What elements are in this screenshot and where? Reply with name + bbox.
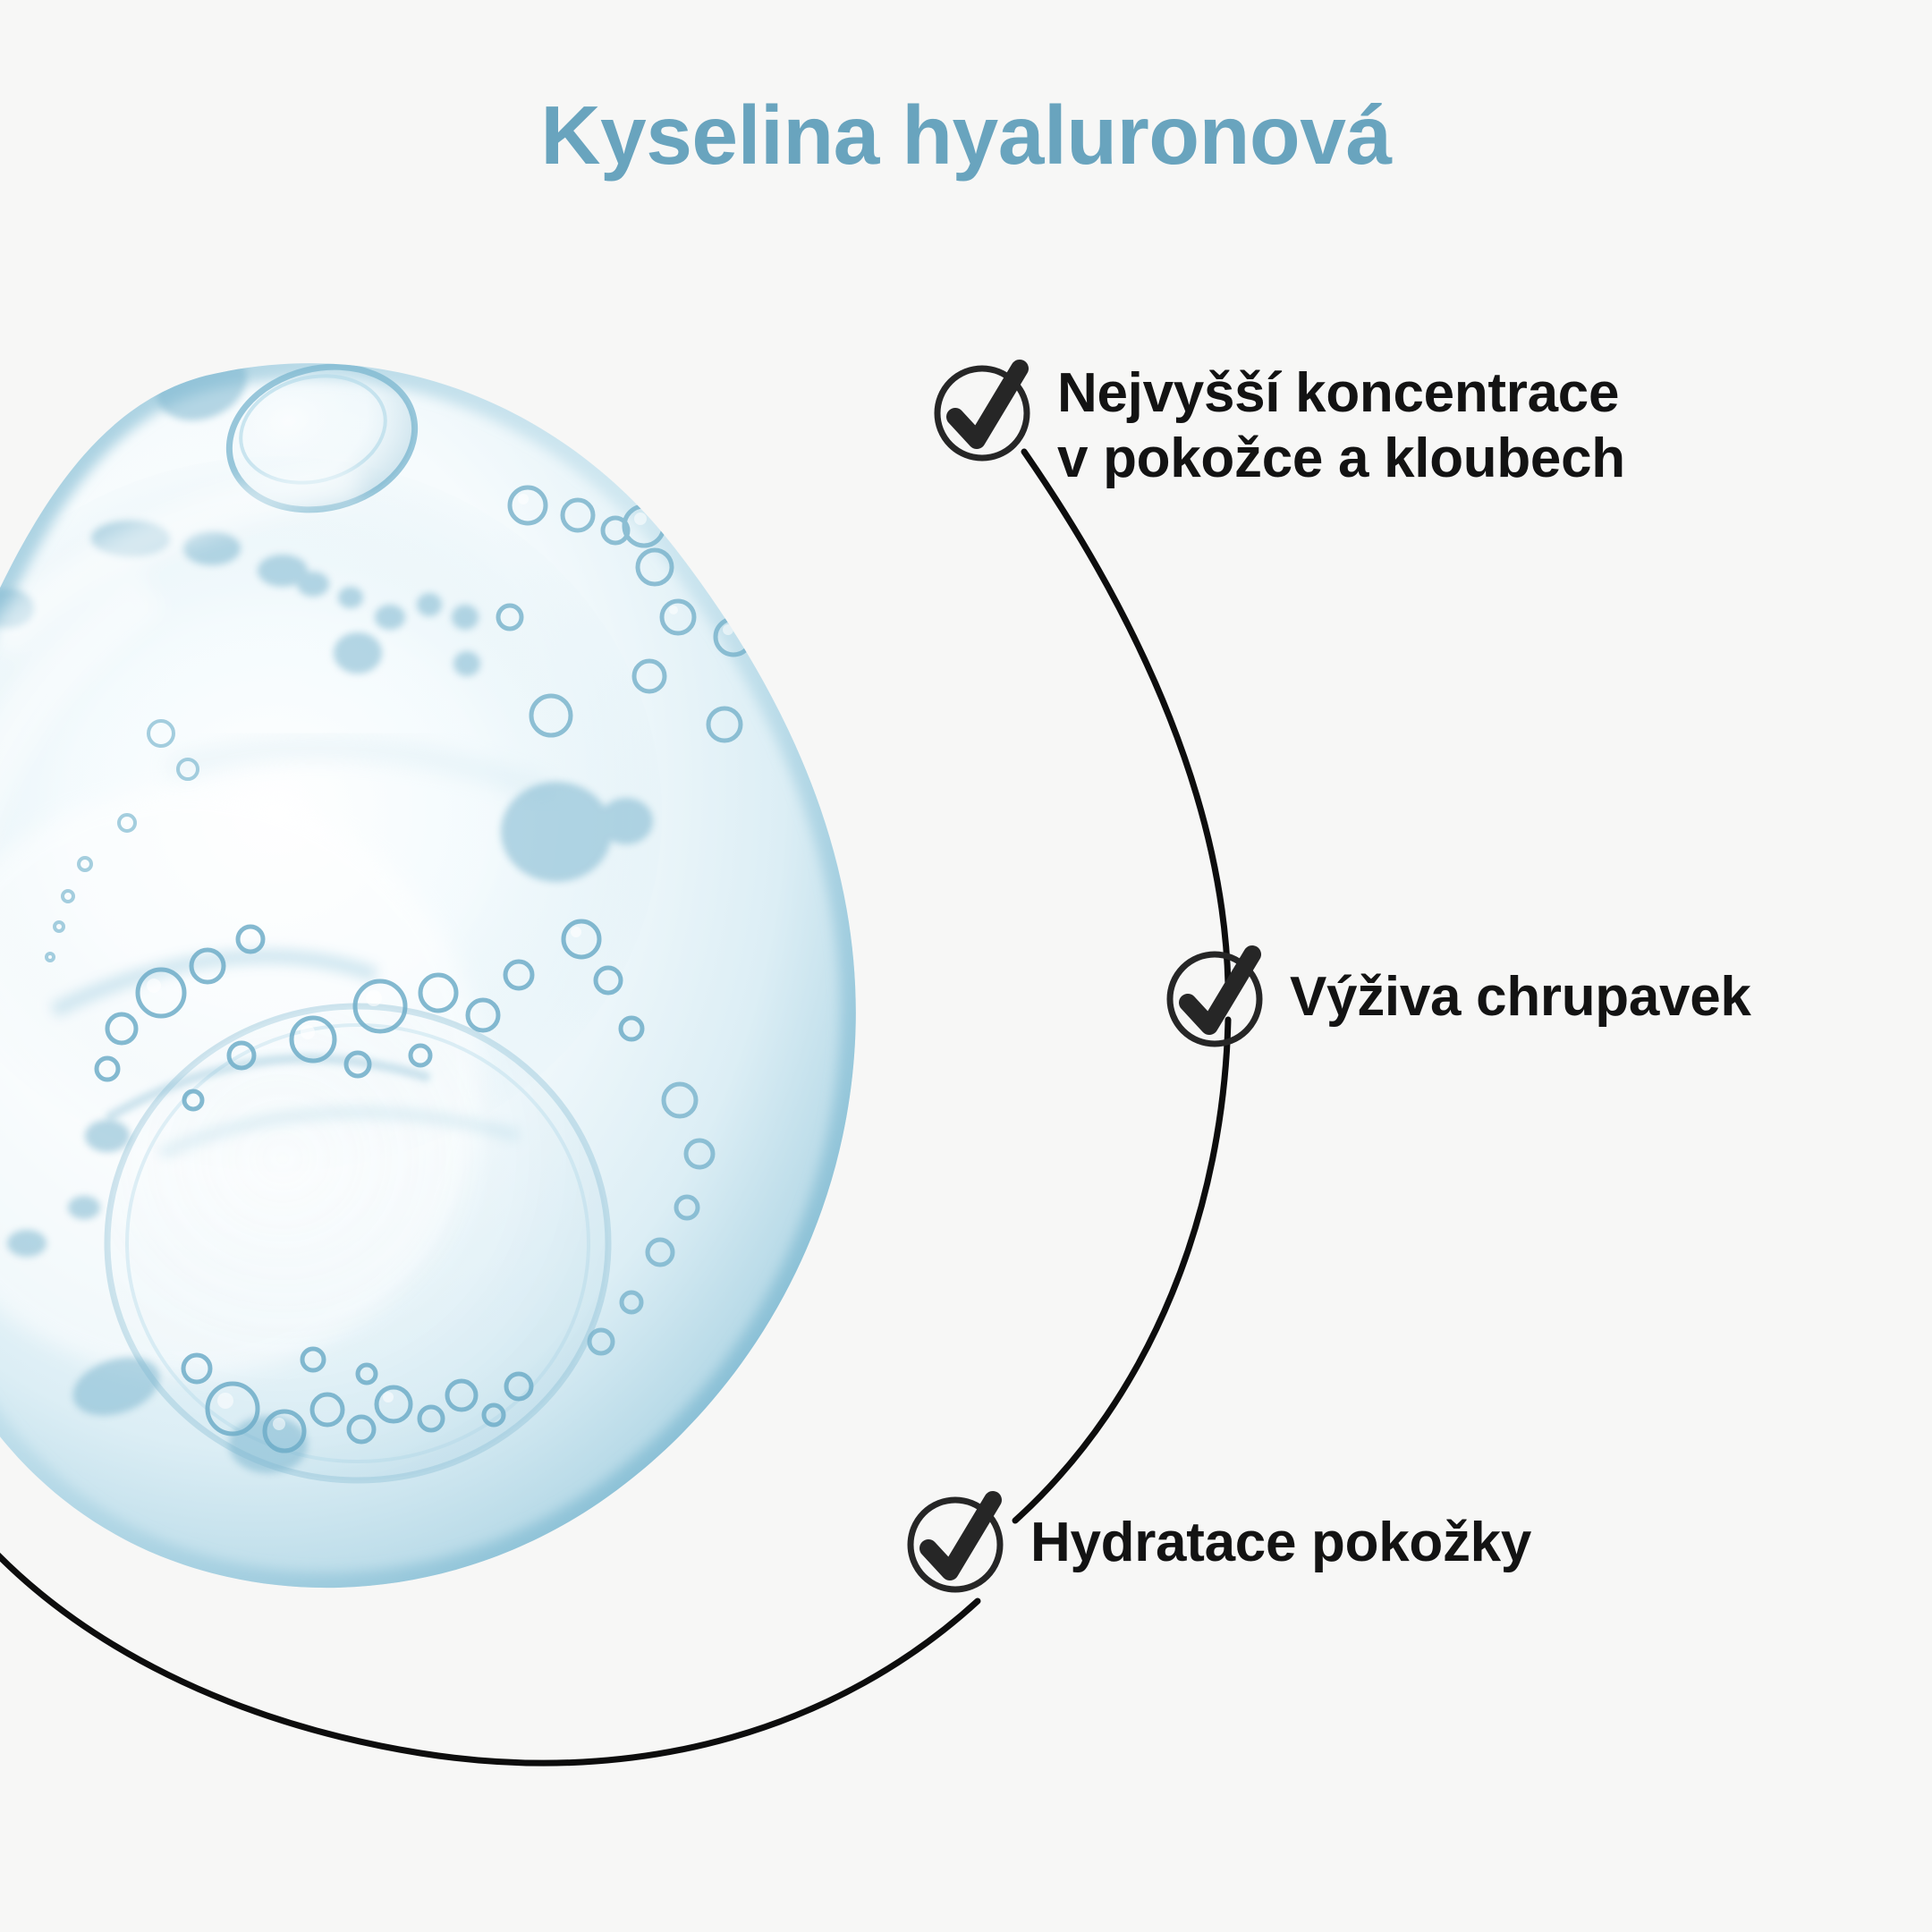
check-circle-icon [930, 358, 1038, 465]
check-circle-icon [1163, 944, 1270, 1051]
feature-label: Nejvyšší koncentrace v pokožce a kloubec… [1057, 361, 1625, 491]
feature-item[interactable]: Nejvyšší koncentrace v pokožce a kloubec… [930, 358, 1625, 491]
feature-label: Výživa chrupavek [1290, 965, 1751, 1030]
hyaluronic-acid-gel-image [0, 349, 1038, 1619]
page-title: Kyselina hyaluronová [0, 89, 1932, 181]
feature-item[interactable]: Výživa chrupavek [1163, 944, 1751, 1051]
feature-item[interactable]: Hydratace pokožky [903, 1489, 1531, 1597]
feature-label: Hydratace pokožky [1030, 1511, 1531, 1576]
infographic-canvas: Kyselina hyaluronová [0, 0, 1932, 1932]
check-circle-icon [903, 1489, 1011, 1597]
